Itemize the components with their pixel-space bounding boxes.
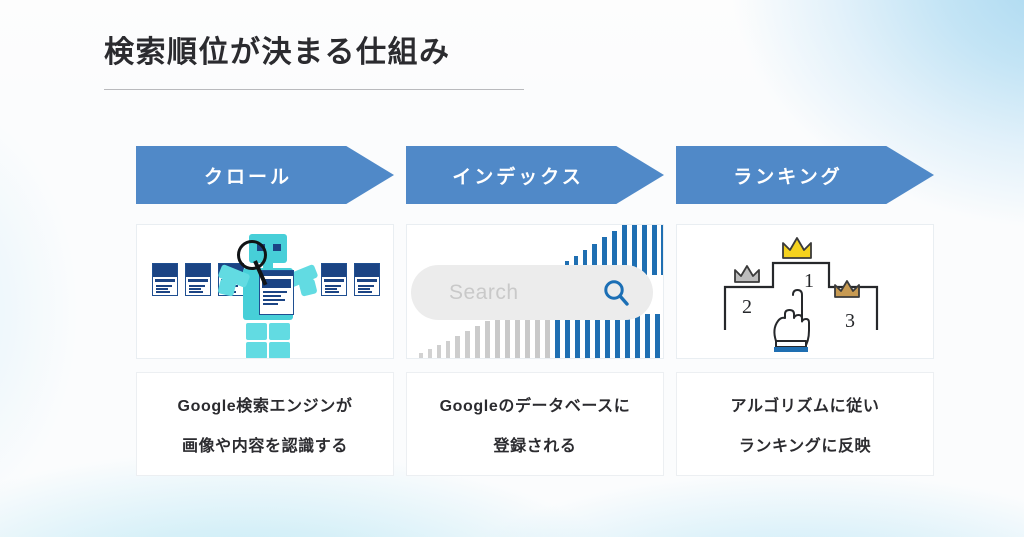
caption-line-1: Googleのデータベースに: [440, 392, 631, 416]
page-title: 検索順位が決まる仕組み: [104, 36, 530, 69]
search-placeholder-text: Search: [449, 281, 519, 305]
robot-leg-lower-left: [246, 342, 267, 359]
lower-bar-group: [413, 314, 664, 358]
podium-place-2: 2: [742, 296, 752, 319]
robot-hand-right: [298, 278, 317, 296]
step-caption-ranking: アルゴリズムに従い ランキングに反映: [676, 372, 934, 476]
caption-line-2: 画像や内容を認識する: [182, 432, 348, 456]
crown-silver-icon: [735, 266, 759, 282]
title-block: 検索順位が決まる仕組み: [104, 36, 530, 90]
step-banner-label: ランキング: [733, 162, 842, 189]
caption-line-1: アルゴリズムに従い: [731, 392, 880, 416]
step-caption-index: Googleのデータベースに 登録される: [406, 372, 664, 476]
robot-leg-upper-right: [269, 323, 290, 340]
crown-bronze-icon: [835, 281, 859, 297]
magnifier-ring-icon: [237, 240, 267, 270]
step-banner-crawl[interactable]: クロール: [136, 146, 394, 204]
search-input[interactable]: Search: [411, 265, 653, 320]
document-card-icon: [152, 263, 178, 296]
hand-base-bar: [774, 347, 808, 352]
robot-eye-right: [273, 244, 281, 251]
robot-leg-upper-left: [246, 323, 267, 340]
ranking-podium-illustration: 1 2 3: [676, 224, 934, 359]
caption-line-2: 登録される: [493, 432, 576, 456]
step-banner-label: インデックス: [452, 162, 583, 189]
search-database-illustration: Search: [406, 224, 664, 359]
podium-place-1: 1: [804, 270, 814, 293]
caption-line-1: Google検索エンジンが: [178, 392, 353, 416]
caption-line-2: ランキングに反映: [739, 432, 871, 456]
step-caption-crawl: Google検索エンジンが 画像や内容を認識する: [136, 372, 394, 476]
podium-place-3: 3: [845, 310, 855, 333]
crawler-robot-illustration: [136, 224, 394, 359]
document-card-icon: [321, 263, 347, 296]
crown-gold-icon: [783, 238, 811, 258]
robot-leg-lower-right: [269, 342, 290, 359]
document-card-icon: [354, 263, 380, 296]
search-icon[interactable]: [601, 278, 631, 313]
pointing-hand-icon: [774, 290, 809, 349]
step-banner-label: クロール: [204, 162, 292, 189]
document-card-icon: [185, 263, 211, 296]
step-banner-index[interactable]: インデックス: [406, 146, 664, 204]
title-underline-rule: [104, 89, 524, 90]
slide-canvas: 検索順位が決まる仕組み クロール: [0, 0, 1024, 537]
step-banner-ranking[interactable]: ランキング: [676, 146, 934, 204]
